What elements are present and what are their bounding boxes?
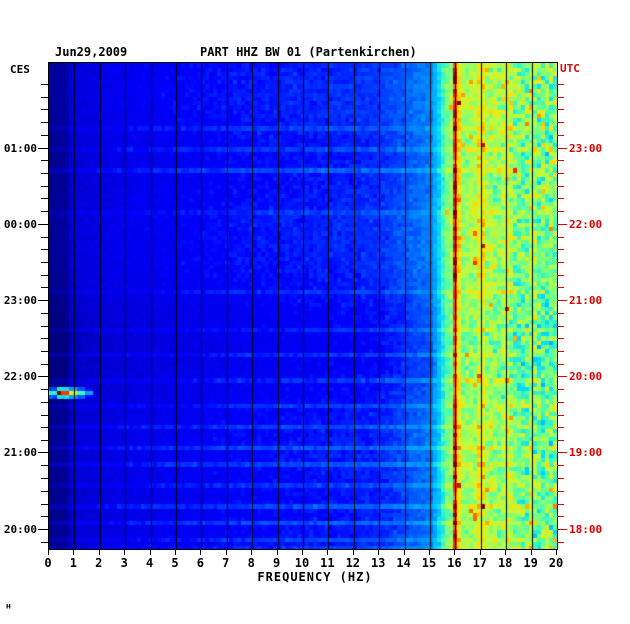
left-axis-tick: [38, 376, 48, 377]
left-axis-minor-tick: [41, 338, 48, 339]
right-axis-minor-tick: [557, 326, 564, 327]
right-axis-minor-tick: [557, 160, 564, 161]
x-axis-tick: [480, 549, 481, 555]
left-axis-tick-label: 21:00: [0, 446, 37, 459]
x-axis-tick: [99, 549, 100, 555]
right-axis-minor-tick: [557, 122, 564, 123]
x-axis-tick-label: 20: [541, 556, 571, 570]
right-axis-title: UTC: [560, 62, 580, 75]
left-axis-minor-tick: [41, 465, 48, 466]
right-axis-minor-tick: [557, 287, 564, 288]
left-axis-minor-tick: [41, 389, 48, 390]
right-axis-minor-tick: [557, 504, 564, 505]
left-axis-minor-tick: [41, 198, 48, 199]
x-axis-tick: [200, 549, 201, 555]
left-axis-minor-tick: [41, 211, 48, 212]
right-axis-tick-label: 22:00: [569, 218, 602, 231]
x-axis-tick: [251, 549, 252, 555]
x-axis-tick: [73, 549, 74, 555]
right-axis-minor-tick: [557, 491, 564, 492]
left-axis-minor-tick: [41, 326, 48, 327]
right-axis-minor-tick: [557, 313, 564, 314]
right-axis-tick-label: 23:00: [569, 142, 602, 155]
right-axis-minor-tick: [557, 186, 564, 187]
spectrogram-canvas: [49, 63, 557, 549]
x-axis-tick: [378, 549, 379, 555]
right-axis-minor-tick: [557, 249, 564, 250]
x-axis-tick: [226, 549, 227, 555]
left-axis-title: CES: [10, 63, 30, 76]
left-axis-minor-tick: [41, 186, 48, 187]
right-axis-minor-tick: [557, 351, 564, 352]
left-axis-minor-tick: [41, 364, 48, 365]
right-axis-minor-tick: [557, 262, 564, 263]
left-axis-minor-tick: [41, 109, 48, 110]
right-axis-tick: [557, 529, 567, 530]
spectrogram-page: Jun29,2009 PART HHZ BW 01 (Partenkirchen…: [0, 0, 630, 624]
right-axis-minor-tick: [557, 415, 564, 416]
x-axis-tick: [124, 549, 125, 555]
right-axis-minor-tick: [557, 275, 564, 276]
left-axis-tick-label: 20:00: [0, 523, 37, 536]
x-axis-tick: [404, 549, 405, 555]
left-axis-minor-tick: [41, 427, 48, 428]
right-axis-minor-tick: [557, 135, 564, 136]
x-axis-tick: [302, 549, 303, 555]
left-axis-tick: [38, 452, 48, 453]
right-axis-minor-tick: [557, 389, 564, 390]
left-axis-minor-tick: [41, 542, 48, 543]
left-axis-tick-label: 00:00: [0, 218, 37, 231]
left-axis-minor-tick: [41, 122, 48, 123]
x-axis-tick: [429, 549, 430, 555]
left-axis-tick: [38, 300, 48, 301]
spectrogram-plot-area[interactable]: [48, 62, 558, 550]
left-axis-minor-tick: [41, 402, 48, 403]
x-axis-tick: [454, 549, 455, 555]
left-axis-minor-tick: [41, 160, 48, 161]
left-axis-minor-tick: [41, 84, 48, 85]
x-axis-tick: [277, 549, 278, 555]
left-axis-minor-tick: [41, 275, 48, 276]
x-axis-tick: [327, 549, 328, 555]
right-axis-tick: [557, 376, 567, 377]
right-axis-minor-tick: [557, 427, 564, 428]
plot-date-label: Jun29,2009: [55, 45, 127, 59]
right-axis-minor-tick: [557, 211, 564, 212]
left-axis-minor-tick: [41, 287, 48, 288]
right-axis-tick: [557, 300, 567, 301]
right-axis-minor-tick: [557, 465, 564, 466]
right-axis-minor-tick: [557, 237, 564, 238]
right-axis-minor-tick: [557, 516, 564, 517]
right-axis-minor-tick: [557, 173, 564, 174]
x-axis-title: FREQUENCY (HZ): [0, 570, 630, 584]
right-axis-tick: [557, 224, 567, 225]
left-axis-tick: [38, 148, 48, 149]
left-axis-minor-tick: [41, 504, 48, 505]
left-axis-minor-tick: [41, 491, 48, 492]
left-axis-tick-label: 23:00: [0, 294, 37, 307]
right-axis-minor-tick: [557, 402, 564, 403]
x-axis-tick: [175, 549, 176, 555]
left-axis-tick-label: 22:00: [0, 370, 37, 383]
left-axis-minor-tick: [41, 351, 48, 352]
right-axis-minor-tick: [557, 542, 564, 543]
right-axis-minor-tick: [557, 364, 564, 365]
x-axis-tick: [150, 549, 151, 555]
left-axis-minor-tick: [41, 516, 48, 517]
left-axis-minor-tick: [41, 97, 48, 98]
left-axis-tick: [38, 529, 48, 530]
right-axis-minor-tick: [557, 440, 564, 441]
render-artifact-glyph: H: [6, 603, 11, 610]
right-axis-minor-tick: [557, 109, 564, 110]
x-axis-tick: [505, 549, 506, 555]
left-axis-minor-tick: [41, 237, 48, 238]
right-axis-minor-tick: [557, 478, 564, 479]
x-axis-tick: [48, 549, 49, 555]
right-axis-tick-label: 21:00: [569, 294, 602, 307]
left-axis-tick: [38, 224, 48, 225]
left-axis-minor-tick: [41, 478, 48, 479]
right-axis-tick: [557, 452, 567, 453]
left-axis-minor-tick: [41, 135, 48, 136]
left-axis-minor-tick: [41, 262, 48, 263]
x-axis-tick: [556, 549, 557, 555]
plot-title: PART HHZ BW 01 (Partenkirchen): [200, 45, 417, 59]
right-axis-tick-label: 19:00: [569, 446, 602, 459]
right-axis-tick: [557, 148, 567, 149]
left-axis-minor-tick: [41, 249, 48, 250]
left-axis-minor-tick: [41, 415, 48, 416]
right-axis-minor-tick: [557, 338, 564, 339]
left-axis-minor-tick: [41, 440, 48, 441]
right-axis-tick-label: 18:00: [569, 523, 602, 536]
x-axis-tick: [353, 549, 354, 555]
left-axis-minor-tick: [41, 173, 48, 174]
left-axis-tick-label: 01:00: [0, 142, 37, 155]
right-axis-minor-tick: [557, 198, 564, 199]
right-axis-minor-tick: [557, 84, 564, 85]
right-axis-minor-tick: [557, 97, 564, 98]
left-axis-minor-tick: [41, 313, 48, 314]
x-axis-tick: [531, 549, 532, 555]
right-axis-tick-label: 20:00: [569, 370, 602, 383]
